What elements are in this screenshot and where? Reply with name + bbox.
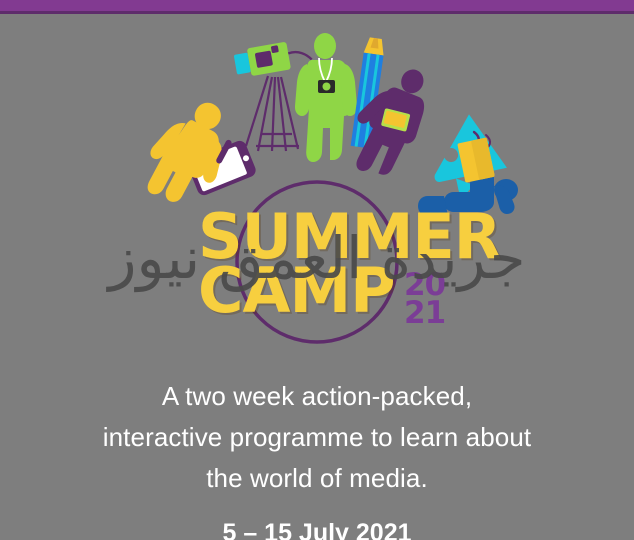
body-copy-line-2: interactive programme to learn about xyxy=(0,417,634,458)
arabic-watermark: جريدة العمق نيوز xyxy=(0,224,634,292)
event-date: 5 – 15 July 2021 xyxy=(0,521,634,540)
summer-camp-poster: SUMMER CAMP 20 21 جريدة العمق نيوز A two… xyxy=(0,0,634,540)
poster-body-copy: A two week action-packed, interactive pr… xyxy=(0,376,634,540)
illustration-graphic xyxy=(0,14,634,344)
body-copy-line-3: the world of media. xyxy=(0,458,634,499)
top-purple-bar xyxy=(0,0,634,11)
blue-person-reading-icon xyxy=(418,137,518,216)
green-person-with-camera-icon xyxy=(295,33,357,162)
body-copy-line-1: A two week action-packed, xyxy=(0,376,634,417)
